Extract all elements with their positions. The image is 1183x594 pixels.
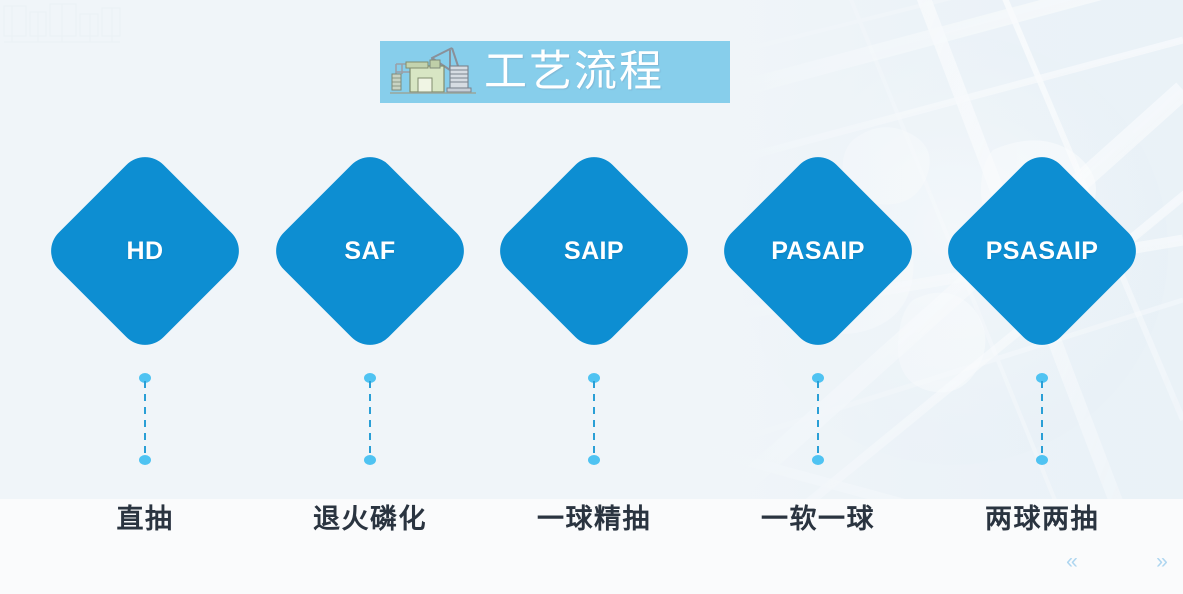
previous-slide-chevron-icon[interactable]: « [1058,548,1086,574]
diamond-code-label: SAIP [480,177,708,325]
background-watermark [2,2,124,54]
diamond-code-label: SAF [256,177,484,325]
connector-dashed-line [593,381,595,457]
step-caption: 两球两抽 [922,497,1162,536]
connector-dashed-line [144,381,146,457]
connector-dot-bottom [1036,455,1048,465]
diamond-code-label: PASAIP [704,177,932,325]
connector-dot-bottom [364,455,376,465]
connector-dashed-line [1041,381,1043,457]
industrial-furnace-crane-icon [386,43,482,101]
process-step-diamond[interactable]: PSASAIP [968,177,1116,325]
step-connector [812,373,824,465]
process-step-diamond[interactable]: PASAIP [744,177,892,325]
step-caption: 退火磷化 [250,497,490,536]
slide-canvas: 工艺流程 HD 直抽 SAF 退火磷化 SAIP 一球精抽 PASAIP [0,0,1183,594]
connector-dashed-line [369,381,371,457]
diamond-code-label: HD [31,177,259,325]
step-caption: 直抽 [25,497,265,536]
title-banner: 工艺流程 [380,41,730,103]
connector-dashed-line [817,381,819,457]
diamond-code-label: PSASAIP [928,177,1156,325]
step-caption: 一软一球 [698,497,938,536]
process-step-diamond[interactable]: SAF [296,177,444,325]
step-connector [139,373,151,465]
page-title: 工艺流程 [484,51,664,94]
step-connector [588,373,600,465]
process-step-diamond[interactable]: HD [71,177,219,325]
step-caption: 一球精抽 [474,497,714,536]
step-connector [1036,373,1048,465]
next-slide-chevron-icon[interactable]: » [1148,548,1176,574]
process-step-diamond[interactable]: SAIP [520,177,668,325]
step-connector [364,373,376,465]
connector-dot-bottom [812,455,824,465]
connector-dot-bottom [588,455,600,465]
connector-dot-bottom [139,455,151,465]
